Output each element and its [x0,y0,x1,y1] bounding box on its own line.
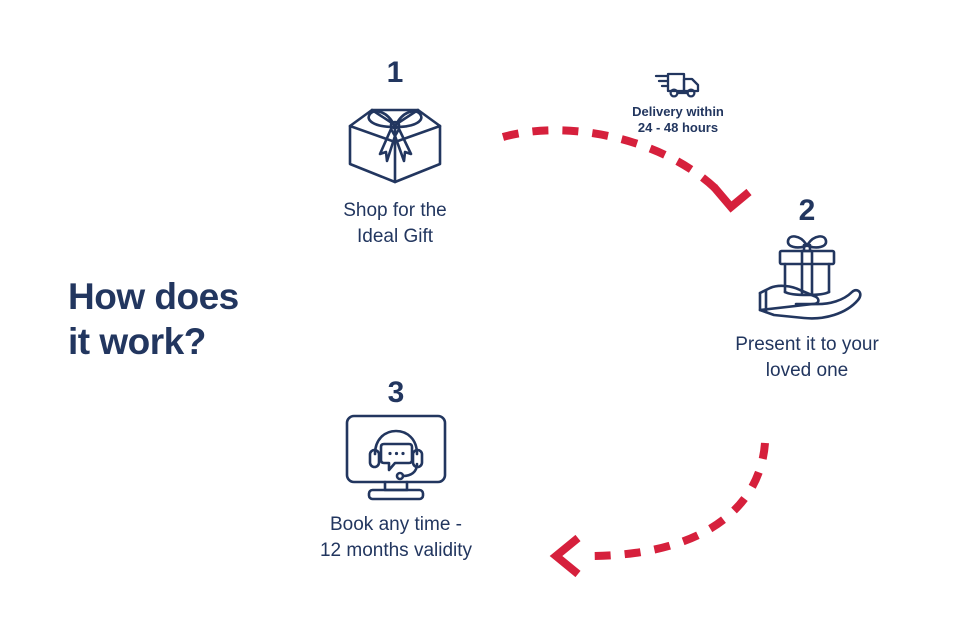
step-3: 3 [296,378,496,564]
page-title-line-2: it work? [68,319,368,364]
delivery-note: Delivery within 24 - 48 hours [592,68,764,136]
monitor-support-headset-icon [296,412,496,502]
page-title-line-1: How does [68,274,368,319]
page-title: How does it work? [68,274,368,364]
step-2-number: 2 [707,196,907,226]
step-1-number: 1 [295,58,495,88]
hand-holding-gift-icon [707,230,907,322]
step-3-caption: Book any time - 12 months validity [296,512,496,564]
gift-box-with-bow-icon [295,92,495,188]
step-1-caption: Shop for the Ideal Gift [295,198,495,250]
arrow-step2-to-step3 [556,443,765,574]
step-2: 2 Present it to your lov [707,196,907,384]
delivery-truck-icon [654,68,702,100]
delivery-note-text: Delivery within 24 - 48 hours [592,104,764,136]
step-3-number: 3 [296,378,496,408]
step-1: 1 Shop for the Ideal Gift [295,58,495,250]
step-2-caption: Present it to your loved one [707,332,907,384]
